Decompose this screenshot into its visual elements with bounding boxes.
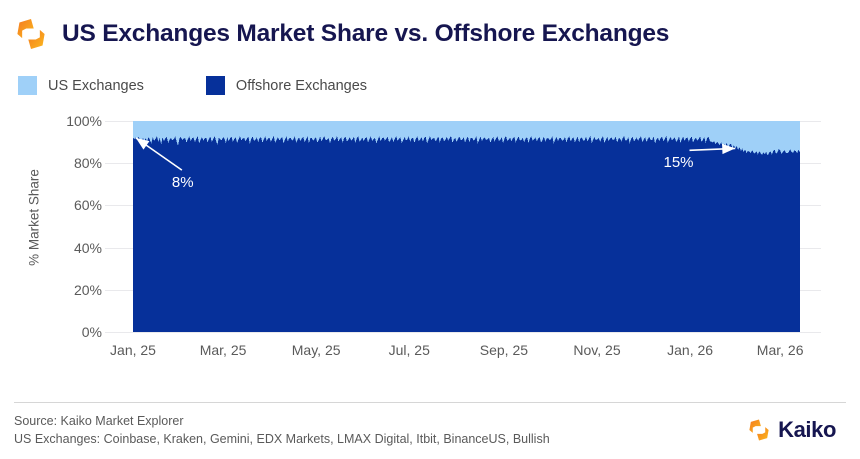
- chart-legend: US Exchanges Offshore Exchanges: [18, 76, 367, 95]
- legend-item-us-exchanges[interactable]: US Exchanges: [18, 76, 144, 95]
- footer-brand: Kaiko: [747, 417, 836, 443]
- annotation-label: 8%: [172, 174, 194, 191]
- chart-plot-area: % Market Share 0%20%40%60%80%100% Jan, 2…: [0, 110, 860, 370]
- kaiko-logo-icon: [14, 17, 48, 51]
- legend-label-us-exchanges: US Exchanges: [48, 78, 144, 94]
- chart-header: US Exchanges Market Share vs. Offshore E…: [0, 0, 860, 68]
- footer-text-block: Source: Kaiko Market Explorer US Exchang…: [14, 412, 550, 448]
- legend-label-offshore-exchanges: Offshore Exchanges: [236, 78, 367, 94]
- x-axis-tick-label: Jan, 25: [110, 342, 156, 358]
- footer-brand-name: Kaiko: [778, 417, 836, 443]
- x-axis-tick-label: Sep, 25: [480, 342, 528, 358]
- chart-footer: Source: Kaiko Market Explorer US Exchang…: [14, 412, 846, 448]
- x-axis-tick-label: Jan, 26: [667, 342, 713, 358]
- footer-source-line: Source: Kaiko Market Explorer: [14, 412, 550, 430]
- page-title: US Exchanges Market Share vs. Offshore E…: [62, 20, 669, 48]
- footer-divider: [14, 402, 846, 403]
- x-axis-tick-label: May, 25: [292, 342, 341, 358]
- legend-swatch-us-exchanges: [18, 76, 37, 95]
- annotation-label: 15%: [663, 154, 693, 171]
- legend-swatch-offshore-exchanges: [206, 76, 225, 95]
- legend-item-offshore-exchanges[interactable]: Offshore Exchanges: [206, 76, 367, 95]
- area-series-offshore-exchanges: [133, 136, 800, 332]
- x-axis-tick-label: Mar, 25: [200, 342, 247, 358]
- x-axis-tick-label: Mar, 26: [757, 342, 804, 358]
- x-axis-tick-label: Nov, 25: [573, 342, 620, 358]
- x-axis-tick-label: Jul, 25: [389, 342, 430, 358]
- stacked-area-plot: [0, 110, 860, 370]
- kaiko-logo-icon: [747, 418, 771, 442]
- footer-constituents-line: US Exchanges: Coinbase, Kraken, Gemini, …: [14, 430, 550, 448]
